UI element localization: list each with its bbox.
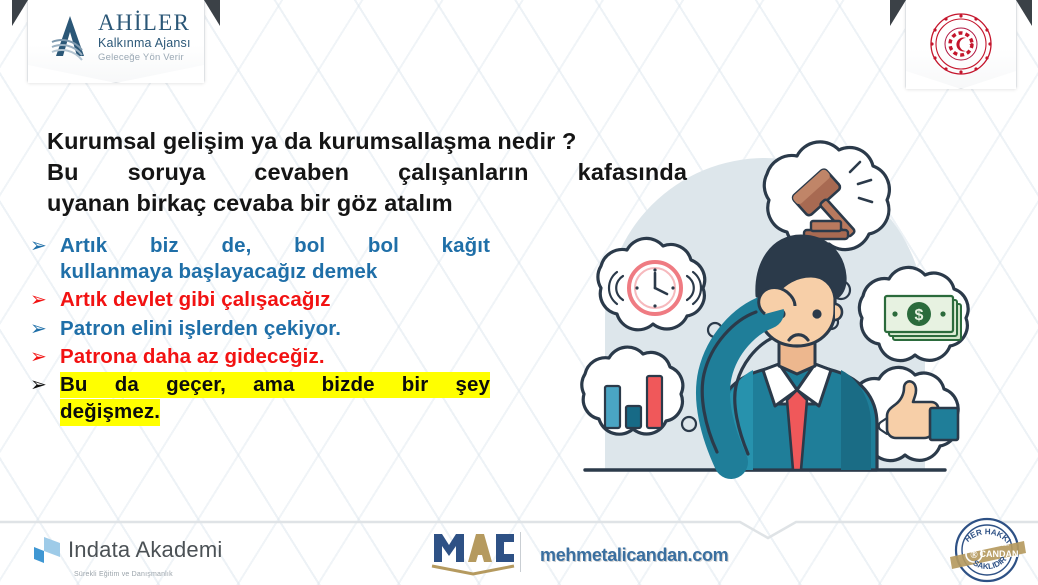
ahiler-tagline: Geleceğe Yön Verir	[98, 53, 191, 63]
bullet-text: Bu da geçer, ama bizde bir şey değişmez.	[60, 372, 490, 425]
ahiler-subtitle: Kalkınma Ajansı	[98, 37, 191, 50]
heading-line-2: Bu soruya cevaben çalışanların kafasında	[47, 157, 687, 188]
list-item: ➢ Patron elini işlerden çekiyor.	[30, 316, 550, 342]
svg-text:$: $	[915, 307, 924, 324]
list-item: ➢ Artık biz de, bol bol kağıt kullanmaya…	[30, 233, 550, 285]
heading-line-1: Kurumsal gelişim ya da kurumsallaşma ned…	[47, 126, 687, 157]
ribbon-fold-left	[12, 0, 28, 26]
list-item: ➢ Artık devlet gibi çalışacağız	[30, 287, 550, 313]
ahiler-logo-ribbon: AHİLER Kalkınma Ajansı Geleceğe Yön Veri…	[27, 0, 205, 83]
bullet-text: Artık biz de, bol bol kağıt kullanmaya b…	[60, 233, 490, 285]
ribbon-fold-right-2	[1016, 0, 1032, 26]
ribbon-fold-left-2	[890, 0, 906, 26]
chart-bubble	[582, 347, 683, 434]
ministry-logo-ribbon	[905, 0, 1017, 89]
website-label: mehmetalicandan.com	[540, 545, 728, 566]
bullet-text: Patrona daha az gideceğiz.	[60, 344, 325, 370]
ribbon-fold-right	[204, 0, 220, 26]
bullet-arrow-icon: ➢	[30, 316, 60, 342]
bullet-text-line-2: kullanmaya başlayacağız demek	[60, 259, 490, 285]
bullet-text-line-1: Artık biz de, bol bol kağıt	[60, 233, 490, 259]
ministry-emblem-icon	[906, 0, 1016, 88]
list-item: ➢ Patrona daha az gideceğiz.	[30, 344, 550, 370]
indata-name: Indata Akademi	[68, 539, 222, 561]
bullet-arrow-icon: ➢	[30, 233, 60, 259]
copyright-seal: ® CANDAN Mehmetali HER HAKKI SAKLIDIR	[944, 515, 1030, 585]
slide-canvas: $	[0, 0, 1038, 585]
bullet-arrow-icon: ➢	[30, 287, 60, 313]
bullet-text-line-2: değişmez.	[60, 399, 160, 425]
slide-heading: Kurumsal gelişim ya da kurumsallaşma ned…	[47, 126, 687, 218]
bullet-text: Artık devlet gibi çalışacağız	[60, 287, 331, 313]
mac-logo	[428, 528, 518, 576]
bullet-text: Patron elini işlerden çekiyor.	[60, 316, 341, 342]
ahiler-mark-icon	[44, 12, 96, 64]
ahiler-title: AHİLER	[98, 11, 191, 34]
indata-akademi-logo: Indata Akademi Sürekli Eğitim ve Danışma…	[30, 533, 222, 578]
footer-separator	[520, 532, 521, 572]
bullet-text-line-1: Bu da geçer, ama bizde bir şey	[60, 372, 490, 398]
list-item: ➢ Bu da geçer, ama bizde bir şey değişme…	[30, 372, 550, 425]
bullet-arrow-icon: ➢	[30, 372, 60, 398]
indata-tagline: Sürekli Eğitim ve Danışmanlık	[74, 571, 222, 578]
mac-mark-icon	[428, 528, 518, 576]
bullet-list: ➢ Artık biz de, bol bol kağıt kullanmaya…	[30, 233, 550, 428]
bullet-arrow-icon: ➢	[30, 344, 60, 370]
indata-mark-icon	[30, 533, 68, 567]
heading-line-3: uyanan birkaç cevaba bir göz atalım	[47, 188, 687, 219]
